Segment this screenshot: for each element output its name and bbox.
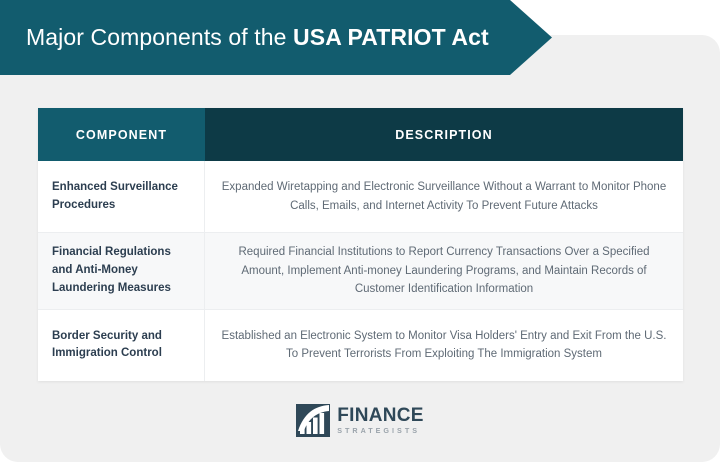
logo-name: FINANCE [337, 406, 424, 425]
cell-description: Established an Electronic System to Moni… [205, 310, 683, 381]
title-banner: Major Components of the USA PATRIOT Act [0, 0, 552, 75]
cell-description: Expanded Wiretapping and Electronic Surv… [205, 161, 683, 232]
table-row: Enhanced Surveillance Procedures Expande… [38, 161, 683, 232]
infographic-root: Major Components of the USA PATRIOT Act … [0, 0, 720, 472]
brand-logo: FINANCE STRATEGISTS [0, 404, 720, 437]
finance-strategists-logo-icon [296, 404, 330, 437]
table-header-row: COMPONENT DESCRIPTION [38, 108, 683, 161]
page-title-bold: USA PATRIOT Act [293, 24, 489, 50]
column-header-component: COMPONENT [38, 108, 205, 161]
components-table: COMPONENT DESCRIPTION Enhanced Surveilla… [38, 108, 683, 381]
page-title-regular: Major Components of the [26, 24, 293, 50]
cell-description: Required Financial Institutions to Repor… [205, 233, 683, 309]
cell-component: Enhanced Surveillance Procedures [38, 161, 205, 232]
table-row: Financial Regulations and Anti-Money Lau… [38, 232, 683, 309]
page-title: Major Components of the USA PATRIOT Act [0, 24, 489, 51]
column-header-description: DESCRIPTION [205, 108, 683, 161]
table-row: Border Security and Immigration Control … [38, 309, 683, 381]
cell-component: Border Security and Immigration Control [38, 310, 205, 381]
logo-tagline: STRATEGISTS [337, 427, 424, 434]
cell-component: Financial Regulations and Anti-Money Lau… [38, 233, 205, 309]
logo-wordmark: FINANCE STRATEGISTS [337, 406, 424, 434]
